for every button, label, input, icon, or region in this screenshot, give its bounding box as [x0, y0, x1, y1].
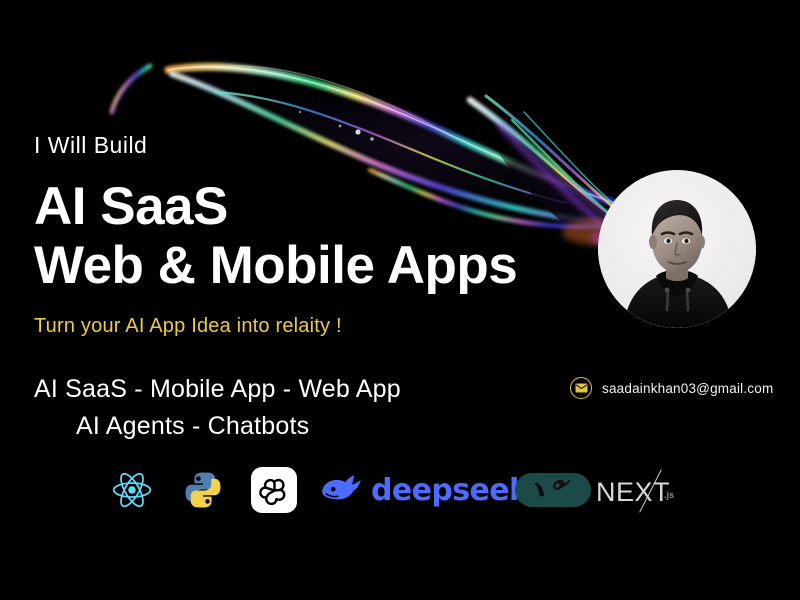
nextjs-logo: NEXT .js [596, 455, 692, 525]
contact-email-row[interactable]: saadainkhan03@gmail.com [570, 377, 773, 399]
python-logo-icon [182, 455, 224, 525]
headline-line-1: AI SaaS [34, 177, 574, 236]
headline-block: I Will Build AI SaaS Web & Mobile Apps T… [34, 132, 574, 338]
react-logo-icon [110, 455, 154, 525]
technology-logo-strip: deepseek NEXT .js [0, 455, 800, 525]
email-address[interactable]: saadainkhan03@gmail.com [602, 381, 773, 396]
avatar [598, 170, 756, 328]
page-title: AI SaaS Web & Mobile Apps [34, 177, 574, 296]
nextjs-wordmark: NEXT [596, 477, 670, 508]
service-line-2: AI Agents - Chatbots [34, 408, 504, 445]
deepseek-logo: deepseek [319, 455, 528, 525]
deepseek-whale-icon [319, 472, 363, 508]
nextjs-suffix: .js [664, 490, 674, 500]
openai-logo-icon [251, 455, 297, 525]
headline-line-2: Web & Mobile Apps [34, 236, 574, 295]
tagline-text: Turn your AI App Idea into relaity ! [34, 315, 574, 338]
services-list: AI SaaS - Mobile App - Web App AI Agents… [34, 371, 504, 444]
deepseek-wordmark: deepseek [371, 473, 528, 508]
envelope-icon [570, 377, 592, 399]
promo-banner: I Will Build AI SaaS Web & Mobile Apps T… [0, 0, 800, 600]
eyebrow-text: I Will Build [34, 132, 574, 160]
service-line-1: AI SaaS - Mobile App - Web App [34, 371, 504, 408]
langchain-logo-icon [515, 455, 591, 525]
